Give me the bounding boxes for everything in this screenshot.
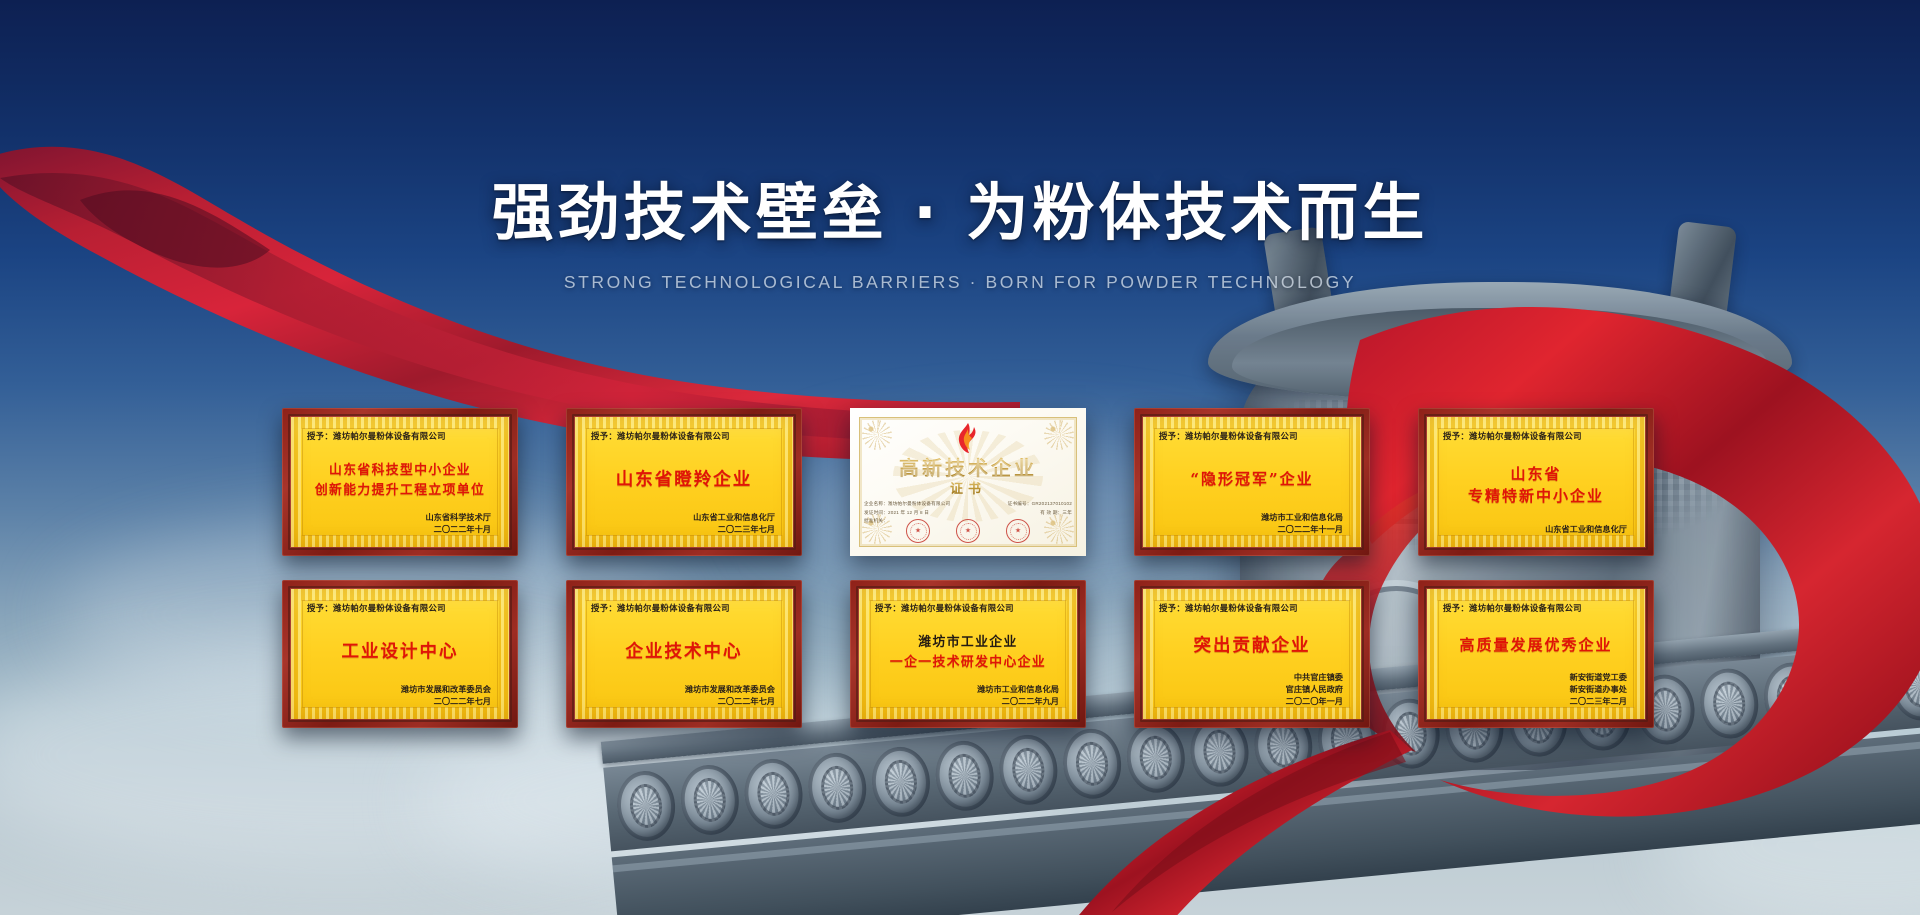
honor-cell: 高新技术企业证书企业名称：潍坊帕尔曼粉体设备有限公司证书编号：GR2021370… bbox=[826, 408, 1110, 556]
plaque-title-line: 一企一技术研发中心企业 bbox=[890, 651, 1046, 670]
plaque-gold-panel: 授予：潍坊帕尔曼粉体设备有限公司山东省专精特新中小企业山东省工业和信息化厅 bbox=[1427, 417, 1645, 547]
plaque-content: 授予：潍坊帕尔曼粉体设备有限公司突出贡献企业中共官庄镇委官庄镇人民政府二〇二〇年… bbox=[1157, 602, 1347, 708]
balustrade-medallion bbox=[1124, 720, 1188, 795]
official-seal-icon bbox=[956, 519, 980, 543]
certificate-seals bbox=[850, 519, 1086, 543]
certificate-field-row: 发证时间：2021 年 12 月 8 日有 效 期：三年 bbox=[864, 509, 1072, 518]
page-title: 强劲技术壁垒 · 为粉体技术而生 bbox=[0, 162, 1920, 252]
plaque-title-line: “隐形冠军”企业 bbox=[1190, 468, 1313, 489]
plaque-issuer: 山东省科学技术厅二〇二二年十月 bbox=[305, 512, 491, 536]
official-seal-icon bbox=[1006, 519, 1030, 543]
plaque-issuer: 潍坊市发展和改革委员会二〇二二年七月 bbox=[589, 684, 775, 708]
plaque-title-block: 山东省瞪羚企业 bbox=[589, 444, 779, 512]
plaque-issuer-line: 二〇二二年十月 bbox=[305, 524, 491, 536]
honor-cell: 授予：潍坊帕尔曼粉体设备有限公司企业技术中心潍坊市发展和改革委员会二〇二二年七月 bbox=[542, 580, 826, 728]
official-seal-icon bbox=[906, 519, 930, 543]
plaque-gold-panel: 授予：潍坊帕尔曼粉体设备有限公司突出贡献企业中共官庄镇委官庄镇人民政府二〇二〇年… bbox=[1143, 589, 1361, 719]
flame-logo-icon bbox=[955, 423, 981, 453]
balustrade-medallion bbox=[741, 756, 805, 831]
plaque-award-to: 授予：潍坊帕尔曼粉体设备有限公司 bbox=[1159, 602, 1347, 614]
plaque-title-line: 创新能力提升工程立项单位 bbox=[315, 479, 485, 498]
plaque-issuer-line: 官庄镇人民政府 bbox=[1157, 684, 1343, 696]
plaque-issuer: 中共官庄镇委官庄镇人民政府二〇二〇年一月 bbox=[1157, 672, 1343, 708]
certificate-subtitle: 证书 bbox=[850, 478, 1086, 497]
plaque-title-line: 山东省瞪羚企业 bbox=[616, 466, 753, 491]
plaque-content: 授予：潍坊帕尔曼粉体设备有限公司企业技术中心潍坊市发展和改革委员会二〇二二年七月 bbox=[589, 602, 779, 708]
balustrade-medallion bbox=[1697, 666, 1761, 741]
plaque-issuer-line: 二〇二二年十一月 bbox=[1157, 524, 1343, 536]
balustrade-medallion bbox=[614, 768, 678, 843]
plaque-title-line: 高质量发展优秀企业 bbox=[1459, 634, 1612, 655]
plaque-title-line: 山东省 bbox=[1510, 463, 1561, 484]
plaque-gold-panel: 授予：潍坊帕尔曼粉体设备有限公司工业设计中心潍坊市发展和改革委员会二〇二二年七月 bbox=[291, 589, 509, 719]
honor-cell: 授予：潍坊帕尔曼粉体设备有限公司山东省瞪羚企业山东省工业和信息化厅二〇二三年七月 bbox=[542, 408, 826, 556]
plaque-award-to: 授予：潍坊帕尔曼粉体设备有限公司 bbox=[307, 430, 495, 442]
plaque-issuer: 潍坊市工业和信息化局二〇二二年十一月 bbox=[1157, 512, 1343, 536]
honor-cell: 授予：潍坊帕尔曼粉体设备有限公司工业设计中心潍坊市发展和改革委员会二〇二二年七月 bbox=[258, 580, 542, 728]
plaque-issuer: 潍坊市发展和改革委员会二〇二二年七月 bbox=[305, 684, 491, 708]
certificate-field-left: 发证时间：2021 年 12 月 8 日 bbox=[864, 509, 929, 518]
plaque-issuer-line: 潍坊市工业和信息化局 bbox=[1157, 512, 1343, 524]
honor-plaque[interactable]: 授予：潍坊帕尔曼粉体设备有限公司“隐形冠军”企业潍坊市工业和信息化局二〇二二年十… bbox=[1134, 408, 1370, 556]
plaque-issuer: 山东省工业和信息化厅二〇二三年七月 bbox=[589, 512, 775, 536]
plaque-gold-panel: 授予：潍坊帕尔曼粉体设备有限公司山东省科技型中小企业创新能力提升工程立项单位山东… bbox=[291, 417, 509, 547]
plaque-gold-panel: 授予：潍坊帕尔曼粉体设备有限公司高质量发展优秀企业新安街道党工委新安街道办事处二… bbox=[1427, 589, 1645, 719]
balustrade-medallion bbox=[869, 744, 933, 819]
honor-cell: 授予：潍坊帕尔曼粉体设备有限公司山东省科技型中小企业创新能力提升工程立项单位山东… bbox=[258, 408, 542, 556]
certificate-field-right: 证书编号：GR202137010102 bbox=[1008, 500, 1072, 509]
honors-row-2: 授予：潍坊帕尔曼粉体设备有限公司工业设计中心潍坊市发展和改革委员会二〇二二年七月… bbox=[258, 580, 1678, 728]
honor-plaque[interactable]: 授予：潍坊帕尔曼粉体设备有限公司企业技术中心潍坊市发展和改革委员会二〇二二年七月 bbox=[566, 580, 802, 728]
plaque-award-to: 授予：潍坊帕尔曼粉体设备有限公司 bbox=[875, 602, 1063, 614]
honor-cell: 授予：潍坊帕尔曼粉体设备有限公司高质量发展优秀企业新安街道党工委新安街道办事处二… bbox=[1394, 580, 1678, 728]
plaque-title-block: “隐形冠军”企业 bbox=[1157, 444, 1347, 512]
plaque-award-to: 授予：潍坊帕尔曼粉体设备有限公司 bbox=[591, 602, 779, 614]
plaque-gold-panel: 授予：潍坊帕尔曼粉体设备有限公司山东省瞪羚企业山东省工业和信息化厅二〇二三年七月 bbox=[575, 417, 793, 547]
plaque-award-to: 授予：潍坊帕尔曼粉体设备有限公司 bbox=[591, 430, 779, 442]
plaque-issuer-line: 潍坊市工业和信息化局 bbox=[873, 684, 1059, 696]
plaque-issuer-line: 新安街道办事处 bbox=[1441, 684, 1627, 696]
plaque-title-line: 专精特新中小企业 bbox=[1468, 485, 1604, 506]
plaque-content: 授予：潍坊帕尔曼粉体设备有限公司潍坊市工业企业一企一技术研发中心企业潍坊市工业和… bbox=[873, 602, 1063, 708]
plaque-issuer: 山东省工业和信息化厅 bbox=[1441, 524, 1627, 536]
plaque-issuer-line: 中共官庄镇委 bbox=[1157, 672, 1343, 684]
honor-cell: 授予：潍坊帕尔曼粉体设备有限公司山东省专精特新中小企业山东省工业和信息化厅 bbox=[1394, 408, 1678, 556]
certificate-field-row: 企业名称：潍坊帕尔曼粉体设备有限公司证书编号：GR202137010102 bbox=[864, 500, 1072, 509]
balustrade-medallion bbox=[1060, 726, 1124, 801]
honor-cell: 授予：潍坊帕尔曼粉体设备有限公司突出贡献企业中共官庄镇委官庄镇人民政府二〇二〇年… bbox=[1110, 580, 1394, 728]
honor-plaque[interactable]: 授予：潍坊帕尔曼粉体设备有限公司突出贡献企业中共官庄镇委官庄镇人民政府二〇二〇年… bbox=[1134, 580, 1370, 728]
honor-plaque[interactable]: 授予：潍坊帕尔曼粉体设备有限公司高质量发展优秀企业新安街道党工委新安街道办事处二… bbox=[1418, 580, 1654, 728]
plaque-issuer-line: 二〇二〇年一月 bbox=[1157, 696, 1343, 708]
plaque-title-block: 工业设计中心 bbox=[305, 616, 495, 684]
plaque-content: 授予：潍坊帕尔曼粉体设备有限公司工业设计中心潍坊市发展和改革委员会二〇二二年七月 bbox=[305, 602, 495, 708]
plaque-issuer-line: 潍坊市发展和改革委员会 bbox=[305, 684, 491, 696]
plaque-issuer-line: 二〇二三年七月 bbox=[589, 524, 775, 536]
plaque-title-line: 潍坊市工业企业 bbox=[918, 631, 1017, 650]
honor-plaque[interactable]: 授予：潍坊帕尔曼粉体设备有限公司潍坊市工业企业一企一技术研发中心企业潍坊市工业和… bbox=[850, 580, 1086, 728]
plaque-content: 授予：潍坊帕尔曼粉体设备有限公司山东省科技型中小企业创新能力提升工程立项单位山东… bbox=[305, 430, 495, 536]
balustrade-medallion bbox=[678, 762, 742, 837]
plaque-issuer-line: 新安街道党工委 bbox=[1441, 672, 1627, 684]
balustrade-medallion bbox=[805, 750, 869, 825]
honors-row-1: 授予：潍坊帕尔曼粉体设备有限公司山东省科技型中小企业创新能力提升工程立项单位山东… bbox=[258, 408, 1678, 556]
high-tech-enterprise-certificate[interactable]: 高新技术企业证书企业名称：潍坊帕尔曼粉体设备有限公司证书编号：GR2021370… bbox=[850, 408, 1086, 556]
plaque-issuer-line: 山东省科学技术厅 bbox=[305, 512, 491, 524]
plaque-title-line: 工业设计中心 bbox=[342, 638, 459, 663]
plaque-title-block: 山东省科技型中小企业创新能力提升工程立项单位 bbox=[305, 444, 495, 512]
certificate-title: 高新技术企业 bbox=[850, 452, 1086, 481]
plaque-issuer-line: 山东省工业和信息化厅 bbox=[589, 512, 775, 524]
honor-plaque[interactable]: 授予：潍坊帕尔曼粉体设备有限公司工业设计中心潍坊市发展和改革委员会二〇二二年七月 bbox=[282, 580, 518, 728]
plaque-title-line: 突出贡献企业 bbox=[1194, 632, 1311, 657]
plaque-title-block: 高质量发展优秀企业 bbox=[1441, 616, 1631, 672]
plaque-title-block: 突出贡献企业 bbox=[1157, 616, 1347, 672]
plaque-award-to: 授予：潍坊帕尔曼粉体设备有限公司 bbox=[1443, 430, 1631, 442]
banner-stage: 强劲技术壁垒 · 为粉体技术而生 STRONG TECHNOLOGICAL BA… bbox=[0, 0, 1920, 915]
plaque-title-line: 山东省科技型中小企业 bbox=[329, 459, 471, 478]
balustrade-medallion bbox=[1824, 654, 1888, 729]
plaque-title-line: 企业技术中心 bbox=[626, 638, 743, 663]
plaque-issuer-line: 潍坊市发展和改革委员会 bbox=[589, 684, 775, 696]
plaque-issuer-line: 二〇二二年九月 bbox=[873, 696, 1059, 708]
honor-cell: 授予：潍坊帕尔曼粉体设备有限公司潍坊市工业企业一企一技术研发中心企业潍坊市工业和… bbox=[826, 580, 1110, 728]
plaque-issuer: 新安街道党工委新安街道办事处二〇二三年二月 bbox=[1441, 672, 1627, 708]
certificate-field-left: 企业名称：潍坊帕尔曼粉体设备有限公司 bbox=[864, 500, 950, 509]
balustrade-medallion bbox=[1761, 660, 1825, 735]
honor-plaque[interactable]: 授予：潍坊帕尔曼粉体设备有限公司山东省专精特新中小企业山东省工业和信息化厅 bbox=[1418, 408, 1654, 556]
balustrade-medallion bbox=[932, 738, 996, 813]
balustrade-medallion bbox=[996, 732, 1060, 807]
plaque-content: 授予：潍坊帕尔曼粉体设备有限公司山东省专精特新中小企业山东省工业和信息化厅 bbox=[1441, 430, 1631, 536]
honor-cell: 授予：潍坊帕尔曼粉体设备有限公司“隐形冠军”企业潍坊市工业和信息化局二〇二二年十… bbox=[1110, 408, 1394, 556]
plaque-issuer-line: 二〇二三年二月 bbox=[1441, 696, 1627, 708]
plaque-issuer-line: 山东省工业和信息化厅 bbox=[1441, 524, 1627, 536]
plaque-gold-panel: 授予：潍坊帕尔曼粉体设备有限公司潍坊市工业企业一企一技术研发中心企业潍坊市工业和… bbox=[859, 589, 1077, 719]
plaque-award-to: 授予：潍坊帕尔曼粉体设备有限公司 bbox=[1443, 602, 1631, 614]
plaque-title-block: 潍坊市工业企业一企一技术研发中心企业 bbox=[873, 616, 1063, 684]
plaque-issuer-line: 二〇二二年七月 bbox=[305, 696, 491, 708]
plaque-issuer: 潍坊市工业和信息化局二〇二二年九月 bbox=[873, 684, 1059, 708]
plaque-gold-panel: 授予：潍坊帕尔曼粉体设备有限公司“隐形冠军”企业潍坊市工业和信息化局二〇二二年十… bbox=[1143, 417, 1361, 547]
plaque-content: 授予：潍坊帕尔曼粉体设备有限公司“隐形冠军”企业潍坊市工业和信息化局二〇二二年十… bbox=[1157, 430, 1347, 536]
plaque-issuer-line: 二〇二二年七月 bbox=[589, 696, 775, 708]
balustrade-medallion bbox=[1888, 648, 1920, 723]
plaque-award-to: 授予：潍坊帕尔曼粉体设备有限公司 bbox=[307, 602, 495, 614]
plaque-title-block: 企业技术中心 bbox=[589, 616, 779, 684]
plaque-content: 授予：潍坊帕尔曼粉体设备有限公司高质量发展优秀企业新安街道党工委新安街道办事处二… bbox=[1441, 602, 1631, 708]
honors-grid: 授予：潍坊帕尔曼粉体设备有限公司山东省科技型中小企业创新能力提升工程立项单位山东… bbox=[258, 408, 1678, 728]
page-subtitle: STRONG TECHNOLOGICAL BARRIERS · BORN FOR… bbox=[0, 272, 1920, 293]
honor-plaque[interactable]: 授予：潍坊帕尔曼粉体设备有限公司山东省科技型中小企业创新能力提升工程立项单位山东… bbox=[282, 408, 518, 556]
certificate-field-right: 有 效 期：三年 bbox=[1040, 509, 1072, 518]
plaque-award-to: 授予：潍坊帕尔曼粉体设备有限公司 bbox=[1159, 430, 1347, 442]
plaque-content: 授予：潍坊帕尔曼粉体设备有限公司山东省瞪羚企业山东省工业和信息化厅二〇二三年七月 bbox=[589, 430, 779, 536]
honor-plaque[interactable]: 授予：潍坊帕尔曼粉体设备有限公司山东省瞪羚企业山东省工业和信息化厅二〇二三年七月 bbox=[566, 408, 802, 556]
plaque-gold-panel: 授予：潍坊帕尔曼粉体设备有限公司企业技术中心潍坊市发展和改革委员会二〇二二年七月 bbox=[575, 589, 793, 719]
plaque-title-block: 山东省专精特新中小企业 bbox=[1441, 444, 1631, 524]
